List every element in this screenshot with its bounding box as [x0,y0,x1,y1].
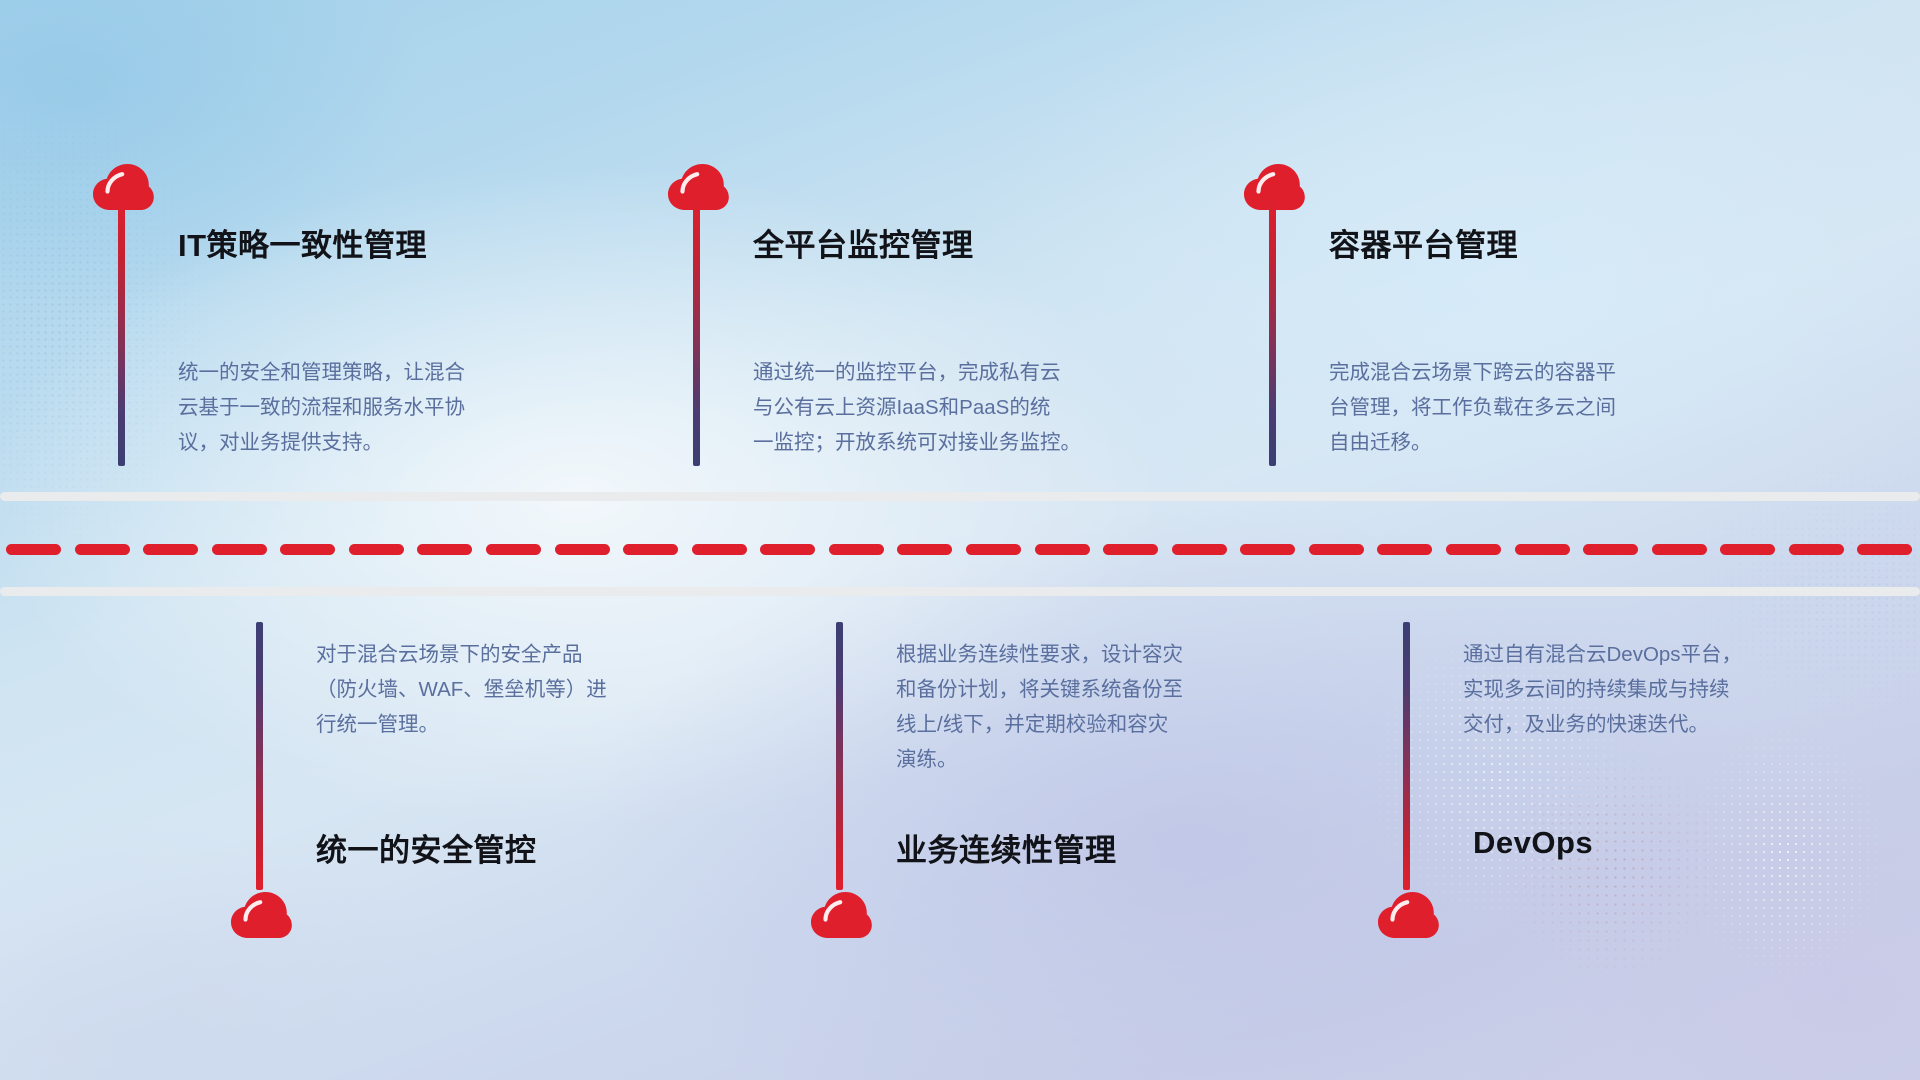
column-description: 统一的安全和管理策略，让混合 云基于一致的流程和服务水平协 议，对业务提供支持。 [178,355,578,460]
description-line: 行统一管理。 [316,707,716,742]
road-dash [555,544,610,555]
road-dash [897,544,952,555]
cloud-icon [1377,888,1439,940]
description-line: 议，对业务提供支持。 [178,425,578,460]
road-rail-bottom [0,587,1920,596]
column-description: 对于混合云场景下的安全产品 （防火墙、WAF、堡垒机等）进 行统一管理。 [316,637,716,742]
description-line: 对于混合云场景下的安全产品 [316,637,716,672]
description-line: 通过统一的监控平台，完成私有云 [753,355,1153,390]
column-stem [836,622,843,890]
road-dashed-centerline [0,544,1920,555]
column-heading: IT策略一致性管理 [178,220,427,265]
column-stem [1269,198,1276,466]
column-stem [1403,622,1410,890]
road-dash [1652,544,1707,555]
road-dash [75,544,130,555]
column-description: 根据业务连续性要求，设计容灾 和备份计划，将关键系统备份至 线上/线下，并定期校… [896,637,1296,777]
description-line: 统一的安全和管理策略，让混合 [178,355,578,390]
column-heading: 业务连续性管理 [896,825,1117,870]
description-line: 演练。 [896,742,1296,777]
cloud-icon [810,888,872,940]
column-stem [256,622,263,890]
road-dash [1515,544,1570,555]
road-dash [829,544,884,555]
road-dash [417,544,472,555]
column-heading: 容器平台管理 [1329,220,1518,265]
description-line: （防火墙、WAF、堡垒机等）进 [316,672,716,707]
description-line: 云基于一致的流程和服务水平协 [178,390,578,425]
road-dash [349,544,404,555]
column-stem [118,198,125,466]
column-description: 完成混合云场景下跨云的容器平 台管理，将工作负载在多云之间 自由迁移。 [1329,355,1729,460]
road-dash [1240,544,1295,555]
road-dash [1720,544,1775,555]
road-dash [1377,544,1432,555]
road-dash [1103,544,1158,555]
description-line: 完成混合云场景下跨云的容器平 [1329,355,1729,390]
description-line: 与公有云上资源IaaS和PaaS的统 [753,390,1153,425]
description-line: 自由迁移。 [1329,425,1729,460]
description-line: 和备份计划，将关键系统备份至 [896,672,1296,707]
road-dash [6,544,61,555]
column-stem [693,198,700,466]
column-heading: 统一的安全管控 [316,825,537,870]
road-dash [760,544,815,555]
road-dash [212,544,267,555]
road-dash [280,544,335,555]
road-dash [1035,544,1090,555]
road-dash [143,544,198,555]
road-dash [1446,544,1501,555]
road-dash [1583,544,1638,555]
column-heading: DevOps [1473,825,1593,861]
cloud-icon [230,888,292,940]
description-line: 实现多云间的持续集成与持续 [1463,672,1863,707]
road-dash [623,544,678,555]
description-line: 一监控；开放系统可对接业务监控。 [753,425,1153,460]
description-line: 通过自有混合云DevOps平台， [1463,637,1863,672]
road-dash [966,544,1021,555]
column-heading: 全平台监控管理 [753,220,974,265]
road-rail-top [0,492,1920,501]
road-dash [1789,544,1844,555]
description-line: 交付，及业务的快速迭代。 [1463,707,1863,742]
description-line: 根据业务连续性要求，设计容灾 [896,637,1296,672]
road-dash [692,544,747,555]
road-dash [486,544,541,555]
description-line: 线上/线下，并定期校验和容灾 [896,707,1296,742]
description-line: 台管理，将工作负载在多云之间 [1329,390,1729,425]
road-dash [1172,544,1227,555]
road-dash [1309,544,1364,555]
column-description: 通过自有混合云DevOps平台， 实现多云间的持续集成与持续 交付，及业务的快速… [1463,637,1863,742]
column-description: 通过统一的监控平台，完成私有云 与公有云上资源IaaS和PaaS的统 一监控；开… [753,355,1153,460]
infographic-canvas: IT策略一致性管理 统一的安全和管理策略，让混合 云基于一致的流程和服务水平协 … [0,0,1920,1080]
road-dash [1857,544,1912,555]
